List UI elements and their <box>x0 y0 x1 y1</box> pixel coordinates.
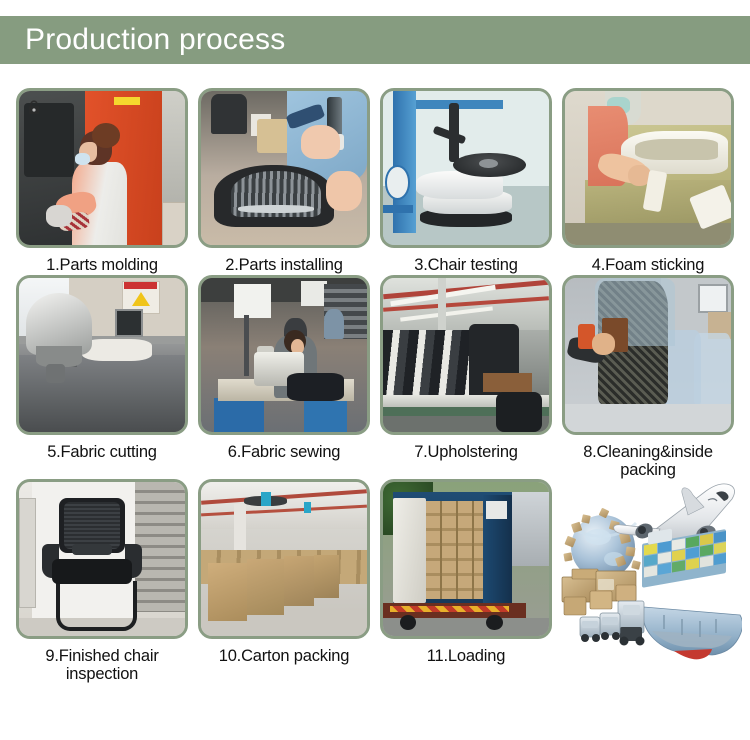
process-step-7[interactable]: 7.Upholstering <box>376 275 556 480</box>
step-8-caption: 8.Cleaning&inside packing <box>559 444 737 480</box>
step-9-photo[interactable] <box>16 479 188 639</box>
process-step-9[interactable]: 9.Finished chair inspection <box>12 479 192 684</box>
step-3-photo[interactable] <box>380 88 552 248</box>
step-8-photo[interactable] <box>562 275 734 435</box>
step-3-caption: 3.Chair testing <box>377 257 555 275</box>
container-ship-icon <box>642 529 742 660</box>
process-step-11[interactable]: 11.Loading <box>376 479 556 684</box>
process-step-3[interactable]: 3.Chair testing <box>376 88 556 275</box>
process-step-4[interactable]: 4.Foam sticking <box>558 88 738 275</box>
step-10-caption: 10.Carton packing <box>195 648 373 666</box>
step-10-photo[interactable] <box>198 479 370 639</box>
process-step-10[interactable]: 10.Carton packing <box>194 479 374 684</box>
step-5-caption: 5.Fabric cutting <box>13 444 191 462</box>
process-step-8[interactable]: 8.Cleaning&inside packing <box>558 275 738 480</box>
header-banner: Production process <box>0 16 750 64</box>
process-step-5[interactable]: 5.Fabric cutting <box>12 275 192 480</box>
logistics-illustration-cell <box>558 479 738 684</box>
step-7-caption: 7.Upholstering <box>377 444 555 462</box>
process-step-1[interactable]: 1.Parts molding <box>12 88 192 275</box>
step-4-photo[interactable] <box>562 88 734 248</box>
step-6-caption: 6.Fabric sewing <box>195 444 373 462</box>
global-logistics-illustration <box>558 479 738 679</box>
step-1-caption: 1.Parts molding <box>13 257 191 275</box>
step-7-photo[interactable] <box>380 275 552 435</box>
step-4-caption: 4.Foam sticking <box>559 257 737 275</box>
step-5-photo[interactable] <box>16 275 188 435</box>
step-2-photo[interactable] <box>198 88 370 248</box>
step-2-caption: 2.Parts installing <box>195 257 373 275</box>
page-title: Production process <box>25 25 285 55</box>
lock-icon <box>27 100 41 115</box>
process-step-6[interactable]: 6.Fabric sewing <box>194 275 374 480</box>
step-11-photo[interactable] <box>380 479 552 639</box>
step-9-caption: 9.Finished chair inspection <box>13 648 191 684</box>
step-11-caption: 11.Loading <box>377 648 555 666</box>
production-process-grid: 1.Parts molding 2.Parts installing <box>12 88 738 684</box>
step-1-photo[interactable] <box>16 88 188 248</box>
logistics-scene <box>556 479 742 677</box>
process-step-2[interactable]: 2.Parts installing <box>194 88 374 275</box>
step-6-photo[interactable] <box>198 275 370 435</box>
